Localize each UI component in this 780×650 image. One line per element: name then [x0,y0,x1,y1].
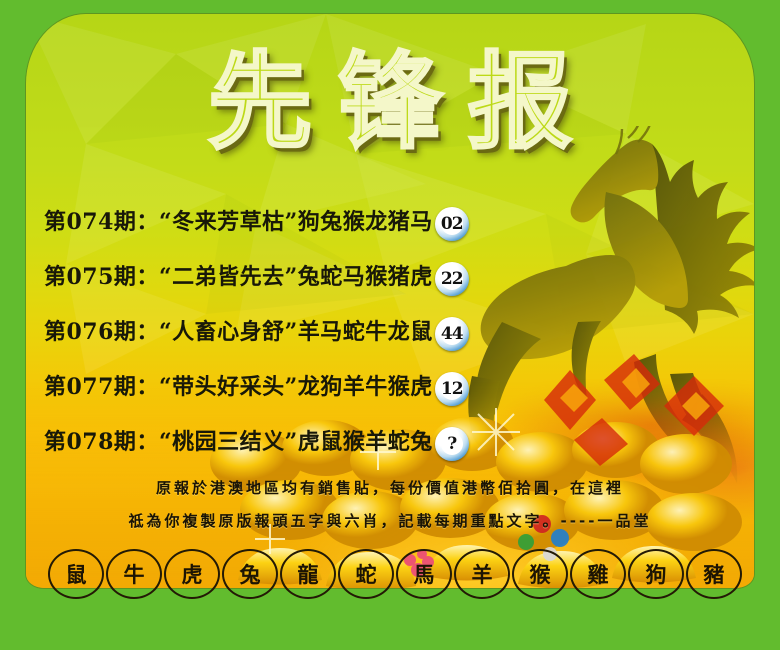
issue-list: 第074期： “冬来芳草枯” 狗兔猴龙猪马 02 第075期： “二弟皆先去” … [44,192,514,467]
zodiac-badge-tiger[interactable]: 虎 [164,549,220,599]
zodiac-badge-dog[interactable]: 狗 [628,549,684,599]
issue-zodiac: 狗兔猴龙猪马 [298,204,433,236]
issue-row[interactable]: 第077期： “带头好采头” 龙狗羊牛猴虎 12 [44,357,514,412]
zodiac-badge-horse[interactable]: 馬 [396,549,452,599]
issue-number: 22 [435,269,469,289]
issue-label: 第074期： [44,204,159,236]
issue-quote: “人畜心身舒” [159,314,298,346]
footer-line-2: 祗為你複製原版報頭五字與六肖，記載每期重點文字。----一品堂 [0,510,780,531]
footer-notes: 原報於港澳地區均有銷售貼，每份價值港幣佰拾圓，在這裡 祗為你複製原版報頭五字與六… [0,477,780,543]
footer-line-1: 原報於港澳地區均有銷售貼，每份價值港幣佰拾圓，在這裡 [0,477,780,498]
zodiac-badge-rabbit[interactable]: 兔 [222,549,278,599]
issue-row[interactable]: 第075期： “二弟皆先去” 兔蛇马猴猪虎 22 [44,247,514,302]
issue-label: 第077期： [44,369,159,401]
issue-label: 第076期： [44,314,159,346]
issue-number: 02 [435,214,469,234]
zodiac-badge-ox[interactable]: 牛 [106,549,162,599]
zodiac-badge-rat[interactable]: 鼠 [48,549,104,599]
issue-number-ball: 12 [435,372,469,406]
issue-quote: “冬来芳草枯” [159,204,298,236]
poster-root: 先锋报 第074期： “冬来芳草枯” 狗兔猴龙猪马 02 第075期： “二弟皆… [0,0,780,650]
poster-title-wrap: 先锋报 [0,46,780,158]
page-title: 先锋报 [182,46,598,158]
issue-number: ? [435,434,469,454]
issue-quote: “二弟皆先去” [159,259,298,291]
issue-zodiac: 兔蛇马猴猪虎 [298,259,433,291]
issue-quote: “带头好采头” [159,369,298,401]
issue-row[interactable]: 第076期： “人畜心身舒” 羊马蛇牛龙鼠 44 [44,302,514,357]
issue-number-ball: 44 [435,317,469,351]
issue-number-ball: ? [435,427,469,461]
zodiac-strip: 鼠 牛 虎 兔 龍 蛇 馬 羊 猴 雞 狗 豬 [48,548,742,600]
issue-label: 第075期： [44,259,159,291]
issue-number: 44 [435,324,469,344]
issue-zodiac: 虎鼠猴羊蛇兔 [298,424,433,456]
issue-zodiac: 龙狗羊牛猴虎 [298,369,433,401]
zodiac-badge-goat[interactable]: 羊 [454,549,510,599]
zodiac-badge-rooster[interactable]: 雞 [570,549,626,599]
issue-row[interactable]: 第074期： “冬来芳草枯” 狗兔猴龙猪马 02 [44,192,514,247]
zodiac-badge-pig[interactable]: 豬 [686,549,742,599]
issue-number-ball: 22 [435,262,469,296]
issue-label: 第078期： [44,424,159,456]
issue-row[interactable]: 第078期： “桃园三结义” 虎鼠猴羊蛇兔 ? [44,412,514,467]
issue-quote: “桃园三结义” [159,424,298,456]
zodiac-badge-snake[interactable]: 蛇 [338,549,394,599]
zodiac-badge-monkey[interactable]: 猴 [512,549,568,599]
issue-number: 12 [435,379,469,399]
zodiac-badge-dragon[interactable]: 龍 [280,549,336,599]
issue-zodiac: 羊马蛇牛龙鼠 [298,314,433,346]
issue-number-ball: 02 [435,207,469,241]
